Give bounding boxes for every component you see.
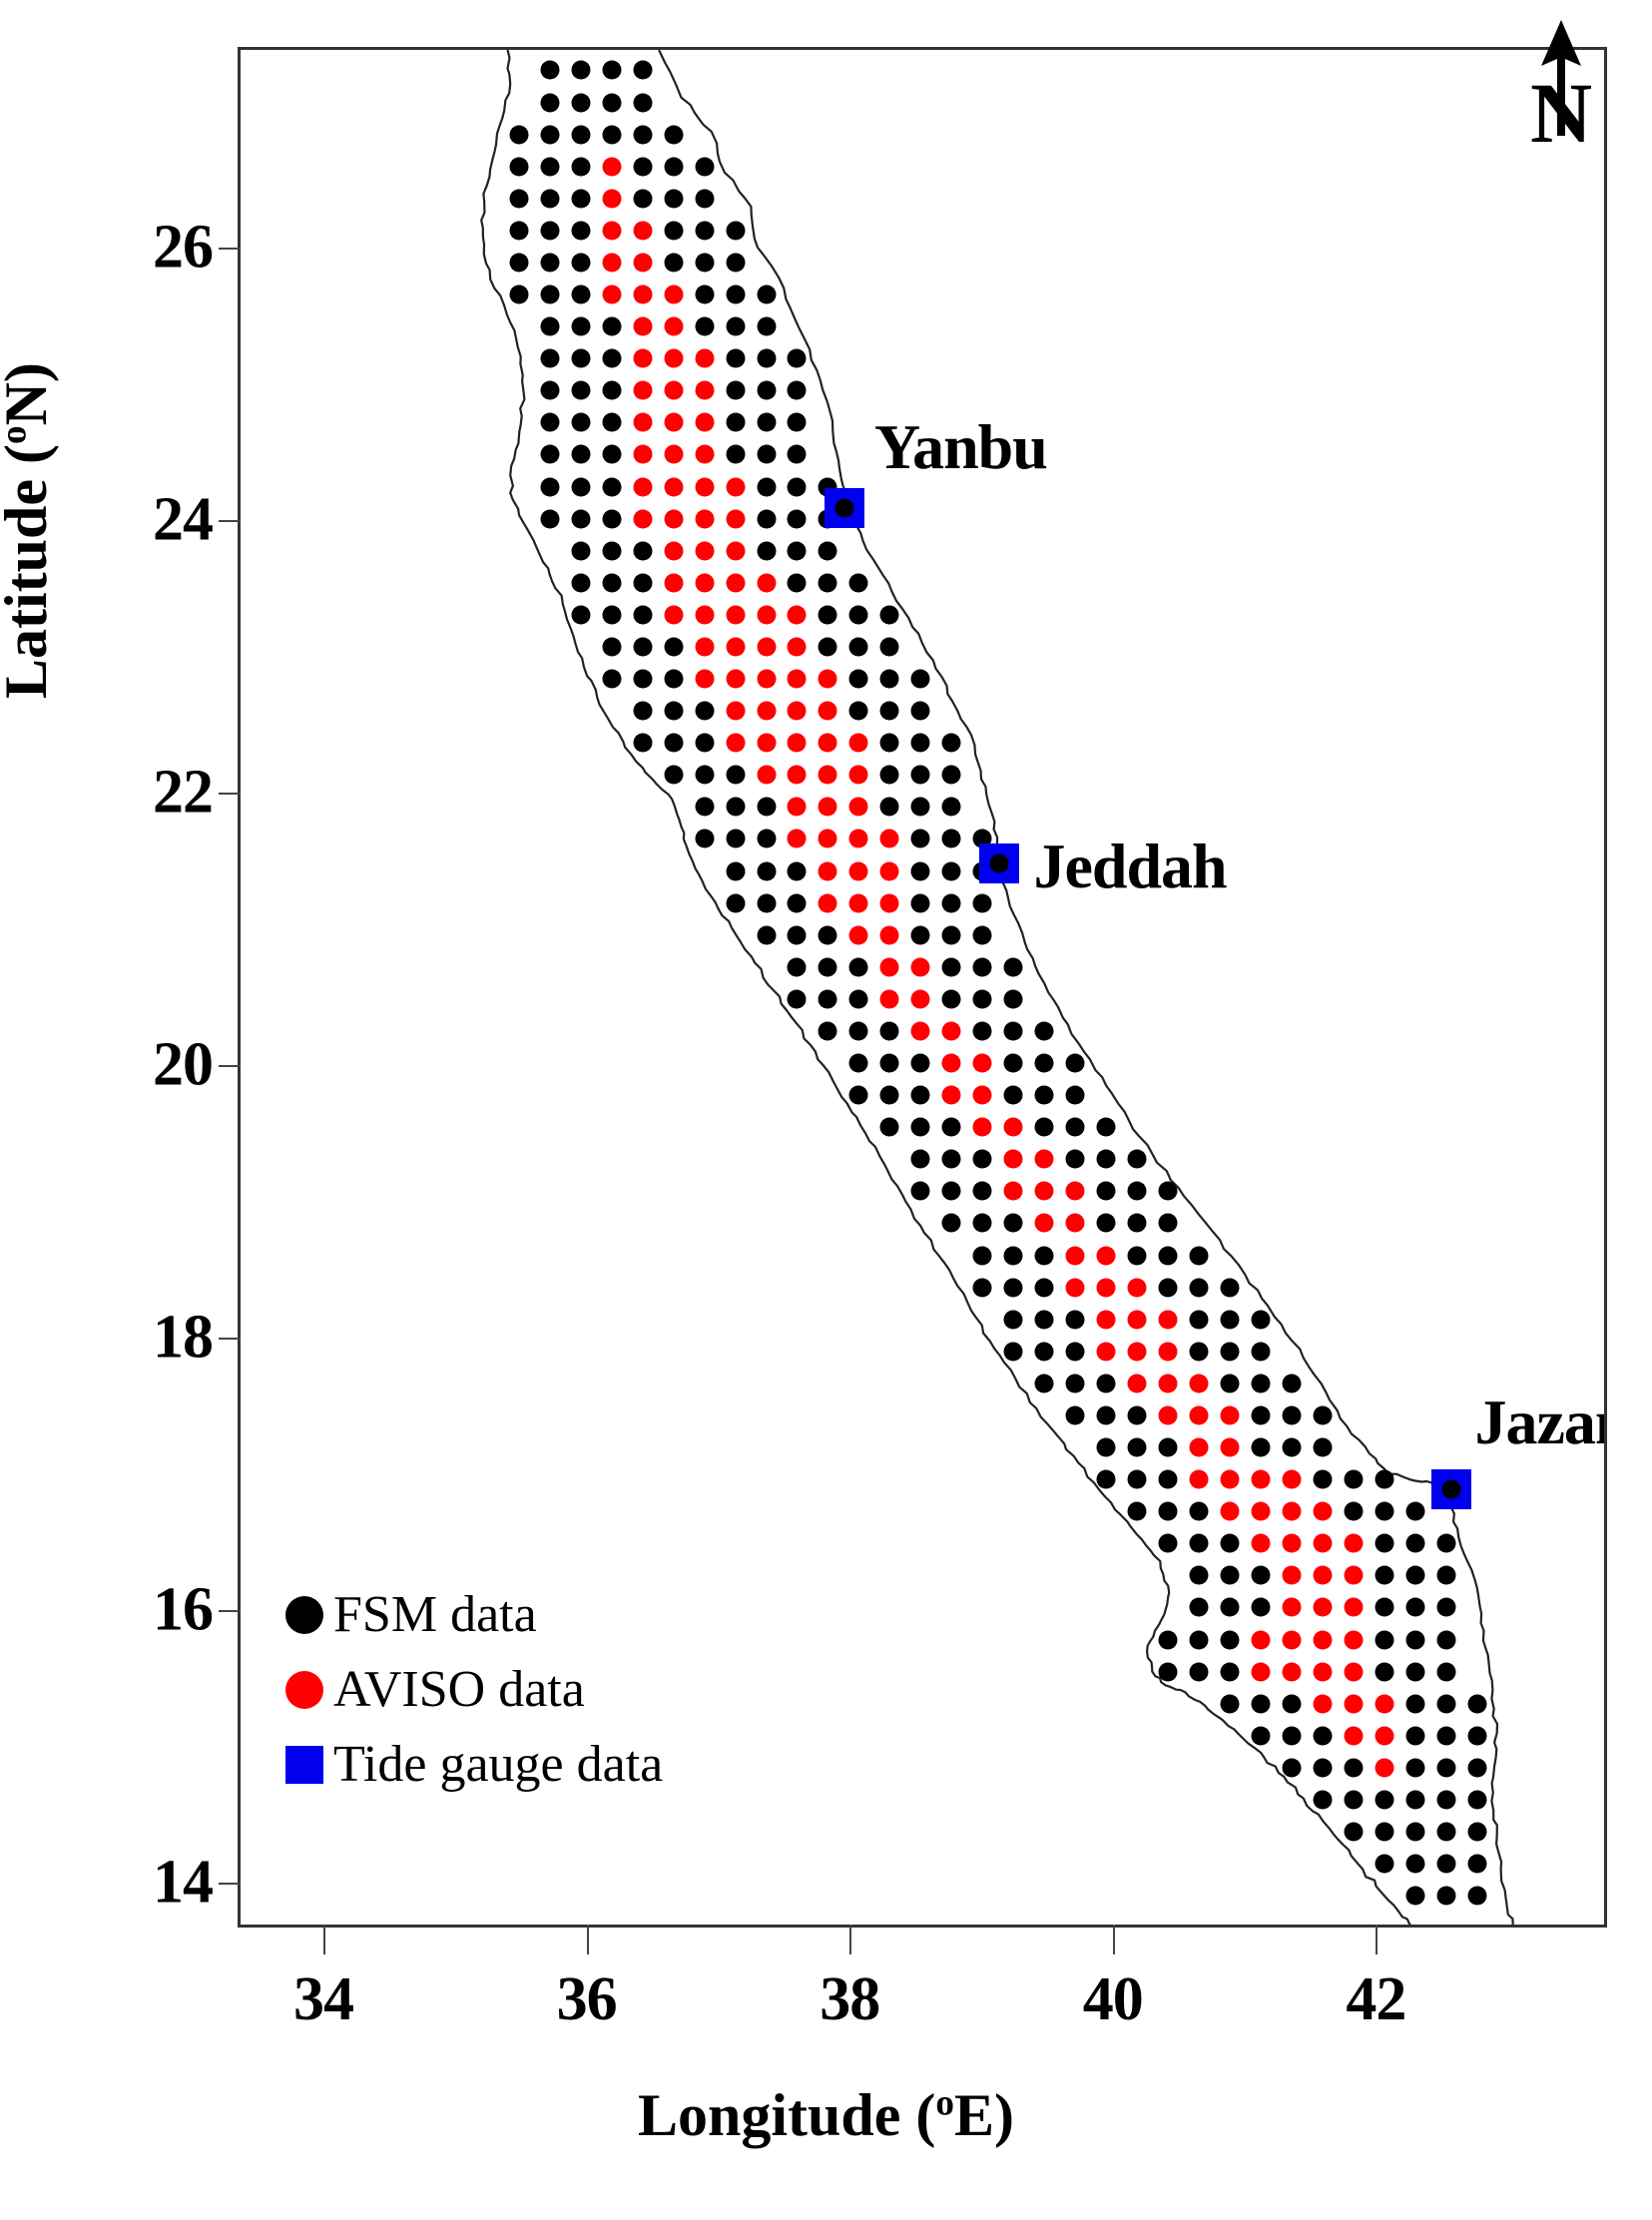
aviso-data-point	[1128, 1278, 1147, 1297]
fsm-data-point	[880, 1086, 899, 1105]
aviso-data-point	[1314, 1566, 1333, 1585]
aviso-data-point	[1035, 1150, 1054, 1169]
aviso-data-point	[757, 766, 776, 785]
fsm-data-point	[1066, 1342, 1085, 1361]
fsm-data-point	[911, 1182, 930, 1201]
fsm-data-point	[973, 1021, 992, 1040]
aviso-data-point	[1066, 1278, 1085, 1297]
fsm-data-point	[602, 445, 621, 464]
aviso-data-point	[1004, 1150, 1023, 1169]
fsm-data-point	[1344, 1502, 1363, 1521]
aviso-data-point	[695, 509, 714, 528]
x-tick-label-38: 38	[820, 1964, 879, 2035]
aviso-data-point	[1097, 1310, 1116, 1329]
fsm-data-point	[1314, 1405, 1333, 1424]
fsm-data-point	[757, 413, 776, 432]
fsm-data-point	[1375, 1823, 1393, 1842]
fsm-data-point	[571, 445, 590, 464]
fsm-data-point	[1159, 1534, 1178, 1553]
x-tick-label-34: 34	[293, 1964, 353, 2035]
x-tick-mark	[1376, 1925, 1377, 1954]
fsm-data-point	[1190, 1630, 1209, 1649]
fsm-data-point	[571, 253, 590, 272]
aviso-data-point	[695, 445, 714, 464]
fsm-data-point	[1159, 1182, 1178, 1201]
y-axis-label-tail: N)	[0, 362, 59, 425]
y-tick-label-20: 20	[153, 1030, 213, 1101]
fsm-data-point	[1128, 1182, 1147, 1201]
x-tick-mark	[587, 1925, 589, 1954]
fsm-data-point	[633, 573, 652, 592]
fsm-data-point	[880, 734, 899, 753]
fsm-data-point	[540, 221, 559, 240]
aviso-data-point	[1221, 1502, 1240, 1521]
fsm-data-point	[540, 93, 559, 112]
fsm-data-point	[602, 317, 621, 336]
aviso-data-point	[1097, 1246, 1116, 1265]
fsm-data-point	[1066, 1150, 1085, 1169]
aviso-data-point	[1159, 1374, 1178, 1392]
aviso-data-point	[664, 349, 683, 368]
aviso-data-point	[633, 349, 652, 368]
fsm-data-point	[1190, 1310, 1209, 1329]
fsm-data-point	[973, 957, 992, 976]
fsm-data-point	[757, 541, 776, 560]
y-tick-mark	[219, 1883, 241, 1885]
aviso-data-point	[819, 798, 837, 817]
fsm-data-point	[880, 702, 899, 721]
fsm-data-point	[1097, 1405, 1116, 1424]
fsm-data-point	[1375, 1502, 1393, 1521]
aviso-data-point	[726, 541, 745, 560]
aviso-data-point	[726, 637, 745, 656]
fsm-data-point	[1221, 1534, 1240, 1553]
fsm-data-point	[757, 893, 776, 912]
fsm-data-point	[1066, 1118, 1085, 1137]
fsm-data-point	[757, 381, 776, 400]
fsm-data-point	[942, 861, 961, 880]
aviso-data-point	[1314, 1662, 1333, 1681]
fsm-data-point	[757, 925, 776, 944]
legend: FSM dataAVISO dataTide gauge data	[281, 1577, 663, 1802]
aviso-data-point	[1314, 1534, 1333, 1553]
fsm-data-point	[509, 221, 528, 240]
fsm-data-point	[819, 541, 837, 560]
north-arrow: N	[1522, 18, 1600, 158]
aviso-data-point	[1190, 1374, 1209, 1392]
fsm-data-point	[1252, 1598, 1271, 1617]
aviso-data-point	[788, 670, 807, 689]
aviso-data-point	[695, 670, 714, 689]
fsm-data-point	[1467, 1790, 1486, 1809]
fsm-data-point	[911, 1086, 930, 1105]
fsm-data-point	[1190, 1278, 1209, 1297]
aviso-data-point	[1283, 1566, 1302, 1585]
legend-item-tide-gauge: Tide gauge data	[281, 1727, 663, 1802]
fsm-data-point	[1004, 1310, 1023, 1329]
fsm-data-point	[1221, 1566, 1240, 1585]
fsm-data-point	[942, 1182, 961, 1201]
fsm-data-point	[1221, 1310, 1240, 1329]
fsm-data-point	[726, 445, 745, 464]
aviso-data-point	[1066, 1182, 1085, 1201]
x-tick-mark	[849, 1925, 851, 1954]
fsm-data-point	[540, 189, 559, 208]
fsm-data-point	[1190, 1598, 1209, 1617]
fsm-data-point	[880, 1118, 899, 1137]
fsm-data-point	[911, 766, 930, 785]
aviso-data-point	[1375, 1758, 1393, 1777]
fsm-data-point	[602, 541, 621, 560]
fsm-data-point	[695, 157, 714, 176]
aviso-data-point	[726, 702, 745, 721]
aviso-data-point	[788, 702, 807, 721]
fsm-data-point	[664, 670, 683, 689]
aviso-data-point	[757, 573, 776, 592]
y-tick-mark	[219, 1338, 241, 1340]
aviso-data-point	[1344, 1726, 1363, 1745]
fsm-data-point	[1314, 1470, 1333, 1489]
fsm-data-point	[757, 349, 776, 368]
aviso-data-point	[973, 1054, 992, 1073]
aviso-data-point	[1283, 1534, 1302, 1553]
fsm-data-point	[602, 413, 621, 432]
fsm-data-point	[695, 317, 714, 336]
fsm-data-point	[1097, 1182, 1116, 1201]
aviso-data-point	[602, 285, 621, 304]
aviso-data-point	[819, 734, 837, 753]
fsm-data-point	[1375, 1598, 1393, 1617]
fsm-data-point	[911, 670, 930, 689]
aviso-data-point	[1221, 1470, 1240, 1489]
fsm-data-point	[788, 349, 807, 368]
fsm-data-point	[1035, 1054, 1054, 1073]
y-axis-label-text: Latitude (	[0, 444, 59, 699]
fsm-data-point	[1375, 1855, 1393, 1874]
aviso-data-point	[726, 477, 745, 496]
fsm-data-point	[973, 989, 992, 1008]
fsm-data-point	[1314, 1790, 1333, 1809]
fsm-data-point	[602, 61, 621, 80]
aviso-data-point	[695, 349, 714, 368]
x-axis-label-text: Longitude (	[638, 2082, 935, 2148]
fsm-data-point	[602, 349, 621, 368]
x-tick-mark	[323, 1925, 325, 1954]
fsm-data-point	[1314, 1438, 1333, 1457]
fsm-data-point	[509, 253, 528, 272]
fsm-data-point	[1375, 1534, 1393, 1553]
fsm-data-point	[1467, 1694, 1486, 1713]
aviso-data-point	[757, 702, 776, 721]
fsm-data-point	[726, 317, 745, 336]
aviso-data-point	[849, 861, 868, 880]
aviso-data-point	[726, 734, 745, 753]
aviso-data-point	[1035, 1182, 1054, 1201]
aviso-data-point	[1344, 1630, 1363, 1649]
fsm-data-point	[571, 573, 590, 592]
fsm-data-point	[602, 605, 621, 624]
aviso-data-point	[1344, 1598, 1363, 1617]
fsm-data-point	[788, 381, 807, 400]
aviso-data-point	[1035, 1214, 1054, 1233]
circle-icon	[285, 1596, 323, 1634]
legend-label-fsm: FSM data	[327, 1585, 537, 1644]
fsm-data-point	[1283, 1374, 1302, 1392]
aviso-data-point	[664, 477, 683, 496]
fsm-data-point	[942, 830, 961, 848]
fsm-data-point	[973, 1182, 992, 1201]
fsm-data-point	[1097, 1118, 1116, 1137]
fsm-data-point	[602, 381, 621, 400]
fsm-data-point	[571, 477, 590, 496]
aviso-data-point	[664, 413, 683, 432]
city-label-yanbu: Yanbu	[874, 410, 1047, 484]
aviso-data-point	[664, 381, 683, 400]
fsm-data-point	[788, 445, 807, 464]
y-tick-mark	[219, 520, 241, 522]
fsm-data-point	[1190, 1502, 1209, 1521]
fsm-data-point	[819, 957, 837, 976]
fsm-data-point	[911, 861, 930, 880]
fsm-data-point	[1252, 1342, 1271, 1361]
fsm-data-point	[664, 125, 683, 144]
fsm-data-point	[726, 861, 745, 880]
fsm-data-point	[1405, 1598, 1424, 1617]
legend-label-tide-gauge: Tide gauge data	[327, 1735, 663, 1794]
fsm-data-point	[633, 157, 652, 176]
fsm-data-point	[1405, 1790, 1424, 1809]
fsm-data-point	[1004, 1086, 1023, 1105]
fsm-data-point	[1467, 1855, 1486, 1874]
fsm-data-point	[788, 509, 807, 528]
fsm-data-point	[1159, 1438, 1178, 1457]
fsm-data-point	[540, 445, 559, 464]
fsm-data-point	[726, 285, 745, 304]
fsm-data-point	[757, 317, 776, 336]
city-label-jazan: Jazan	[1475, 1386, 1604, 1459]
aviso-data-point	[664, 509, 683, 528]
fsm-data-point	[1190, 1662, 1209, 1681]
fsm-data-point	[1097, 1438, 1116, 1457]
fsm-data-point	[633, 125, 652, 144]
fsm-data-point	[942, 893, 961, 912]
legend-marker-aviso	[281, 1671, 327, 1709]
fsm-data-point	[571, 285, 590, 304]
fsm-data-point	[1190, 1566, 1209, 1585]
aviso-data-point	[1190, 1438, 1209, 1457]
aviso-data-point	[633, 413, 652, 432]
aviso-data-point	[942, 1086, 961, 1105]
fsm-data-point	[1035, 1118, 1054, 1137]
aviso-data-point	[695, 573, 714, 592]
fsm-data-point	[1221, 1278, 1240, 1297]
fsm-data-point	[911, 830, 930, 848]
fsm-data-point	[1066, 1405, 1085, 1424]
fsm-data-point	[1252, 1405, 1271, 1424]
fsm-data-point	[849, 573, 868, 592]
fsm-data-point	[1344, 1823, 1363, 1842]
fsm-data-point	[1252, 1726, 1271, 1745]
fsm-data-point	[540, 349, 559, 368]
aviso-data-point	[788, 637, 807, 656]
aviso-data-point	[1344, 1566, 1363, 1585]
y-tick-label-24: 24	[153, 485, 213, 556]
x-axis-degree-symbol: o	[935, 2083, 954, 2124]
fsm-data-point	[602, 93, 621, 112]
fsm-data-point	[788, 477, 807, 496]
fsm-data-point	[1128, 1150, 1147, 1169]
aviso-data-point	[726, 670, 745, 689]
fsm-data-point	[695, 830, 714, 848]
x-tick-label-40: 40	[1083, 1964, 1143, 2035]
fsm-data-point	[726, 381, 745, 400]
fsm-data-point	[1405, 1630, 1424, 1649]
aviso-data-point	[633, 477, 652, 496]
fsm-data-point	[880, 637, 899, 656]
fsm-data-point	[633, 61, 652, 80]
fsm-data-point	[1467, 1758, 1486, 1777]
fsm-data-point	[1097, 1374, 1116, 1392]
aviso-data-point	[1283, 1502, 1302, 1521]
aviso-data-point	[1252, 1630, 1271, 1649]
fsm-data-point	[849, 670, 868, 689]
north-arrow-icon: N	[1522, 18, 1600, 158]
aviso-data-point	[633, 381, 652, 400]
fsm-data-point	[1128, 1405, 1147, 1424]
fsm-data-point	[695, 702, 714, 721]
aviso-data-point	[1283, 1662, 1302, 1681]
fsm-data-point	[540, 381, 559, 400]
fsm-data-point	[911, 893, 930, 912]
fsm-data-point	[695, 221, 714, 240]
fsm-data-point	[1097, 1150, 1116, 1169]
aviso-data-point	[788, 830, 807, 848]
aviso-data-point	[819, 670, 837, 689]
fsm-data-point	[1190, 1534, 1209, 1553]
fsm-data-point	[633, 541, 652, 560]
fsm-data-point	[571, 349, 590, 368]
fsm-data-point	[942, 989, 961, 1008]
fsm-data-point	[540, 477, 559, 496]
aviso-data-point	[880, 957, 899, 976]
fsm-data-point	[726, 766, 745, 785]
fsm-data-point	[788, 925, 807, 944]
fsm-data-point	[1190, 1342, 1209, 1361]
fsm-data-point	[757, 509, 776, 528]
fsm-data-point	[788, 957, 807, 976]
fsm-data-point	[911, 734, 930, 753]
fsm-data-point	[633, 605, 652, 624]
aviso-data-point	[849, 925, 868, 944]
fsm-data-point	[973, 1214, 992, 1233]
fsm-data-point	[1221, 1630, 1240, 1649]
fsm-data-point	[726, 221, 745, 240]
fsm-data-point	[571, 61, 590, 80]
aviso-data-point	[1252, 1534, 1271, 1553]
aviso-data-point	[664, 445, 683, 464]
fsm-data-point	[1004, 989, 1023, 1008]
fsm-data-point	[1159, 1470, 1178, 1489]
fsm-data-point	[1436, 1630, 1455, 1649]
fsm-data-point	[1467, 1726, 1486, 1745]
fsm-data-point	[664, 253, 683, 272]
fsm-data-point	[1190, 1246, 1209, 1265]
fsm-data-point	[757, 861, 776, 880]
aviso-data-point	[1221, 1438, 1240, 1457]
fsm-data-point	[973, 893, 992, 912]
fsm-data-point	[633, 637, 652, 656]
fsm-data-point	[1004, 1246, 1023, 1265]
aviso-data-point	[788, 798, 807, 817]
fsm-data-point	[633, 734, 652, 753]
fsm-data-point	[942, 1150, 961, 1169]
fsm-data-point	[602, 573, 621, 592]
aviso-data-point	[880, 861, 899, 880]
aviso-data-point	[1344, 1694, 1363, 1713]
aviso-data-point	[1314, 1598, 1333, 1617]
fsm-data-point	[695, 285, 714, 304]
fsm-data-point	[819, 637, 837, 656]
fsm-data-point	[1405, 1726, 1424, 1745]
fsm-data-point	[664, 637, 683, 656]
fsm-data-point	[973, 1246, 992, 1265]
fsm-data-point	[1375, 1662, 1393, 1681]
fsm-data-point	[942, 766, 961, 785]
fsm-data-point	[819, 573, 837, 592]
aviso-data-point	[1128, 1374, 1147, 1392]
aviso-data-point	[695, 413, 714, 432]
fsm-data-point	[1128, 1214, 1147, 1233]
aviso-data-point	[942, 1054, 961, 1073]
fsm-data-point	[1283, 1405, 1302, 1424]
aviso-data-point	[788, 605, 807, 624]
fsm-data-point	[849, 957, 868, 976]
aviso-data-point	[1128, 1310, 1147, 1329]
x-axis-label-tail: E)	[954, 2082, 1014, 2148]
fsm-data-point	[664, 702, 683, 721]
fsm-data-point	[942, 734, 961, 753]
fsm-data-point	[834, 498, 853, 517]
aviso-data-point	[1283, 1630, 1302, 1649]
fsm-data-point	[880, 605, 899, 624]
fsm-data-point	[1436, 1887, 1455, 1906]
aviso-data-point	[1375, 1726, 1393, 1745]
fsm-data-point	[1252, 1694, 1271, 1713]
aviso-data-point	[602, 189, 621, 208]
fsm-data-point	[1128, 1438, 1147, 1457]
fsm-data-point	[540, 285, 559, 304]
legend-label-aviso: AVISO data	[327, 1660, 585, 1719]
fsm-data-point	[571, 157, 590, 176]
aviso-data-point	[757, 670, 776, 689]
y-tick-label-26: 26	[153, 212, 213, 282]
fsm-data-point	[911, 1054, 930, 1073]
x-tick-label-36: 36	[557, 1964, 617, 2035]
aviso-data-point	[1159, 1342, 1178, 1361]
fsm-data-point	[1004, 1214, 1023, 1233]
fsm-data-point	[1035, 1086, 1054, 1105]
fsm-data-point	[1221, 1694, 1240, 1713]
aviso-data-point	[1221, 1405, 1240, 1424]
aviso-data-point	[819, 702, 837, 721]
fsm-data-point	[1159, 1662, 1178, 1681]
fsm-data-point	[1375, 1566, 1393, 1585]
fsm-data-point	[571, 605, 590, 624]
aviso-data-point	[1375, 1694, 1393, 1713]
aviso-data-point	[1283, 1470, 1302, 1489]
fsm-data-point	[1405, 1502, 1424, 1521]
aviso-data-point	[880, 925, 899, 944]
